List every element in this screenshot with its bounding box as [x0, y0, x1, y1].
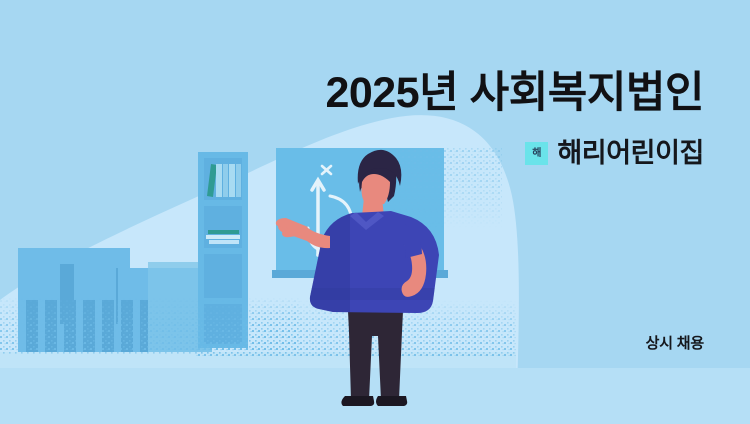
book-light-4 — [236, 164, 241, 197]
book-row-stacked — [206, 230, 240, 244]
shoe-right — [376, 396, 407, 406]
shoe-left — [341, 396, 374, 406]
illustration-scene — [0, 0, 750, 424]
book-light-3 — [229, 164, 235, 197]
book-stack-pale-1 — [206, 235, 240, 239]
book-light-2 — [223, 164, 228, 197]
book-stack-green — [208, 230, 239, 234]
bookshelf-shelf-low — [204, 254, 242, 298]
book-light-1 — [216, 164, 222, 197]
floor-band — [0, 368, 750, 424]
recruitment-banner: 2025년 사회복지법인 해 해리어린이집 상시 채용 — [0, 0, 750, 424]
book-stack-pale-2 — [209, 240, 239, 244]
head — [362, 174, 391, 204]
